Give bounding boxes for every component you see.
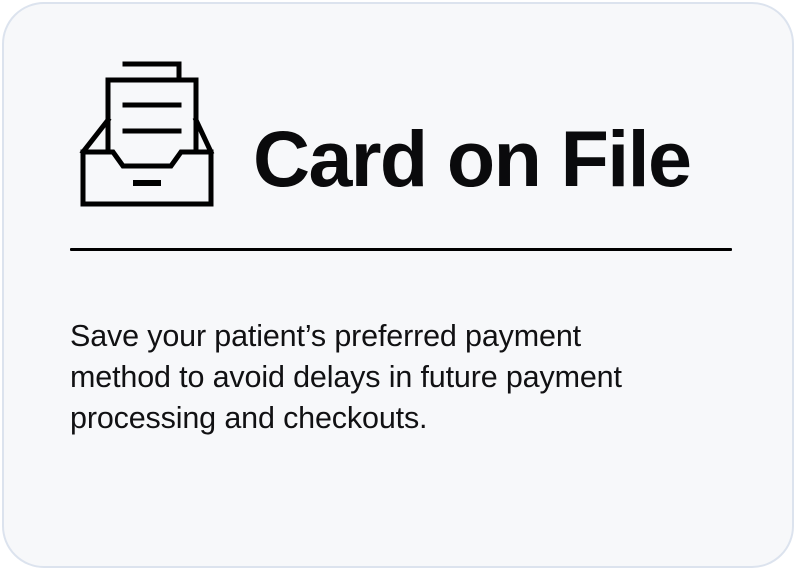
file-tray-document-icon	[78, 56, 218, 214]
description-line: method to avoid delays in future payment	[70, 357, 680, 398]
page-title: Card on File	[253, 116, 690, 202]
card-description: Save your patient’s preferred payment me…	[70, 316, 680, 439]
card-on-file-card: Card on File Save your patient’s preferr…	[2, 2, 794, 568]
description-line: processing and checkouts.	[70, 398, 680, 439]
header-divider	[70, 248, 732, 251]
card-header: Card on File	[4, 4, 792, 234]
description-line: Save your patient’s preferred payment	[70, 316, 680, 357]
